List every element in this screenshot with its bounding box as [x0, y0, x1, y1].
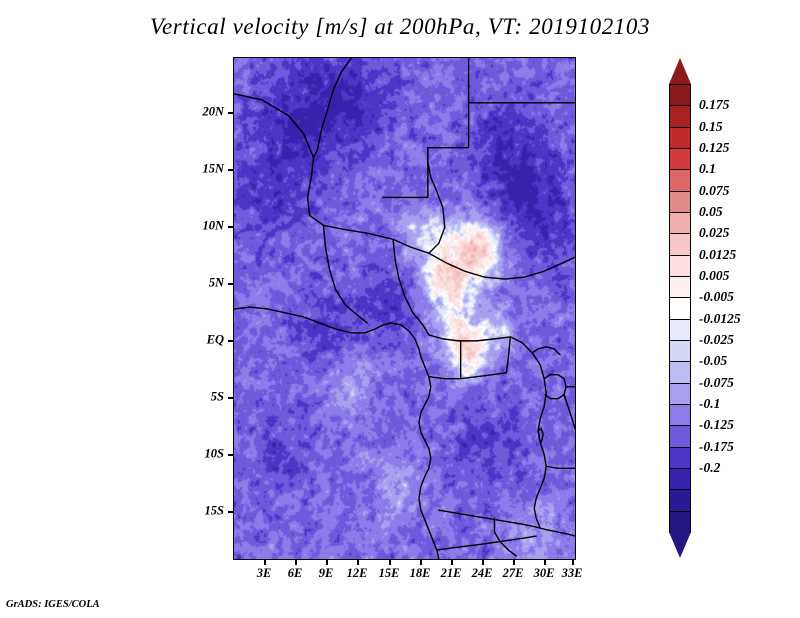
lon-label-21E: 21E [441, 566, 462, 581]
lon-tick-6E [295, 560, 297, 565]
colorbar-swatch-12 [669, 340, 691, 363]
lon-tick-21E [451, 560, 453, 565]
vertical-velocity-heatmap [234, 58, 575, 559]
colorbar-label-11: -0.025 [699, 332, 734, 348]
colorbar-swatch-19 [669, 489, 691, 512]
colorbar-label-13: -0.075 [699, 375, 734, 391]
colorbar-label-6: 0.025 [699, 225, 729, 241]
colorbar-swatch-1 [669, 105, 691, 128]
lon-tick-24E [482, 560, 484, 565]
lat-tick-5S [228, 397, 233, 399]
lat-label-20N: 20N [178, 105, 224, 120]
colorbar-swatch-13 [669, 361, 691, 384]
lon-label-18E: 18E [410, 566, 431, 581]
lat-tick-20N [228, 112, 233, 114]
lat-tick-15N [228, 169, 233, 171]
lon-label-3E: 3E [257, 566, 272, 581]
colorbar-label-10: -0.0125 [699, 311, 741, 327]
colorbar-label-7: 0.0125 [699, 247, 736, 263]
map-plot-area [233, 57, 576, 560]
colorbar-label-5: 0.05 [699, 204, 723, 220]
lat-tick-10S [228, 454, 233, 456]
lon-label-6E: 6E [288, 566, 303, 581]
lon-label-33E: 33E [562, 566, 583, 581]
colorbar-swatch-20 [669, 511, 691, 534]
colorbar-swatch-15 [669, 404, 691, 427]
colorbar-swatch-18 [669, 468, 691, 491]
colorbar-label-2: 0.125 [699, 140, 729, 156]
lon-tick-12E [357, 560, 359, 565]
lon-label-30E: 30E [534, 566, 555, 581]
colorbar-label-4: 0.075 [699, 183, 729, 199]
lat-tick-5N [228, 283, 233, 285]
colorbar-swatch-3 [669, 148, 691, 171]
lon-label-12E: 12E [347, 566, 368, 581]
colorbar-label-3: 0.1 [699, 161, 716, 177]
colorbar-swatch-16 [669, 425, 691, 448]
page-title: Vertical velocity [m/s] at 200hPa, VT: 2… [0, 14, 800, 40]
lon-tick-33E [572, 560, 574, 565]
lat-label-EQ: EQ [178, 333, 224, 348]
lon-label-24E: 24E [472, 566, 493, 581]
colorbar-swatch-17 [669, 447, 691, 470]
lat-label-5N: 5N [178, 276, 224, 291]
colorbar-label-16: -0.175 [699, 439, 734, 455]
lon-tick-15E [389, 560, 391, 565]
colorbar-swatch-5 [669, 191, 691, 214]
colorbar-swatch-11 [669, 319, 691, 342]
colorbar-arrow-bottom [669, 532, 691, 558]
lat-label-10N: 10N [178, 219, 224, 234]
lon-tick-18E [420, 560, 422, 565]
lon-label-27E: 27E [503, 566, 524, 581]
colorbar-swatch-4 [669, 169, 691, 192]
colorbar-swatch-10 [669, 297, 691, 320]
colorbar-label-14: -0.1 [699, 396, 720, 412]
colorbar-swatch-7 [669, 233, 691, 256]
lon-label-9E: 9E [319, 566, 334, 581]
lat-label-15N: 15N [178, 162, 224, 177]
lat-tick-10N [228, 226, 233, 228]
colorbar-swatch-2 [669, 127, 691, 150]
lon-tick-30E [544, 560, 546, 565]
colorbar-swatch-0 [669, 84, 691, 107]
colorbar-label-0: 0.175 [699, 97, 729, 113]
colorbar-arrow-top [669, 58, 691, 84]
colorbar-label-17: -0.2 [699, 460, 720, 476]
colorbar-swatch-8 [669, 255, 691, 278]
lat-label-15S: 15S [178, 504, 224, 519]
lat-tick-15S [228, 511, 233, 513]
footer-credit: GrADS: IGES/COLA [6, 599, 100, 610]
lat-label-10S: 10S [178, 447, 224, 462]
lon-tick-3E [264, 560, 266, 565]
lon-tick-27E [513, 560, 515, 565]
colorbar [669, 58, 691, 558]
colorbar-label-8: 0.005 [699, 268, 729, 284]
colorbar-label-9: -0.005 [699, 289, 734, 305]
colorbar-swatch-14 [669, 383, 691, 406]
lat-tick-EQ [228, 340, 233, 342]
lon-tick-9E [326, 560, 328, 565]
lat-label-5S: 5S [178, 390, 224, 405]
colorbar-swatch-9 [669, 276, 691, 299]
colorbar-swatch-6 [669, 212, 691, 235]
colorbar-label-1: 0.15 [699, 119, 723, 135]
lon-label-15E: 15E [379, 566, 400, 581]
colorbar-label-12: -0.05 [699, 353, 727, 369]
colorbar-label-15: -0.125 [699, 417, 734, 433]
